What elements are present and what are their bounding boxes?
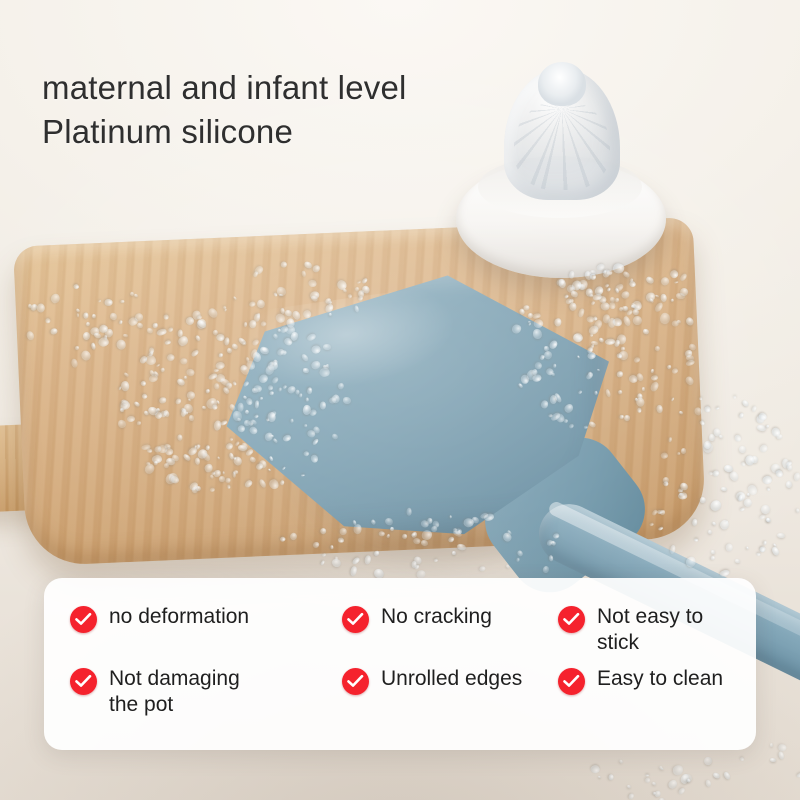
feature-label: Not damaging the pot bbox=[109, 666, 240, 718]
feature-item-unrolled-edges: Unrolled edges bbox=[342, 666, 558, 695]
feature-label: No cracking bbox=[381, 604, 492, 630]
headline-line-1: maternal and infant level bbox=[42, 66, 562, 110]
check-icon bbox=[558, 606, 585, 633]
feature-item-not-damaging-the-pot: Not damaging the pot bbox=[70, 666, 342, 718]
feature-label: no deformation bbox=[109, 604, 249, 630]
feature-card: no deformation No cracking Not easy to s… bbox=[44, 578, 756, 750]
check-icon bbox=[70, 606, 97, 633]
check-icon bbox=[70, 668, 97, 695]
feature-item-not-easy-to-stick: Not easy to stick bbox=[558, 604, 730, 656]
feature-label: Unrolled edges bbox=[381, 666, 522, 692]
check-icon bbox=[342, 668, 369, 695]
headline-line-2: Platinum silicone bbox=[42, 110, 562, 154]
feature-item-no-cracking: No cracking bbox=[342, 604, 558, 633]
product-image: maternal and infant level Platinum silic… bbox=[0, 0, 800, 800]
feature-item-easy-to-clean: Easy to clean bbox=[558, 666, 730, 695]
feature-grid: no deformation No cracking Not easy to s… bbox=[44, 578, 756, 750]
headline: maternal and infant level Platinum silic… bbox=[42, 66, 562, 153]
check-icon bbox=[342, 606, 369, 633]
feature-item-no-deformation: no deformation bbox=[70, 604, 342, 633]
check-icon bbox=[558, 668, 585, 695]
feature-label: Not easy to stick bbox=[597, 604, 730, 656]
feature-label: Easy to clean bbox=[597, 666, 723, 692]
